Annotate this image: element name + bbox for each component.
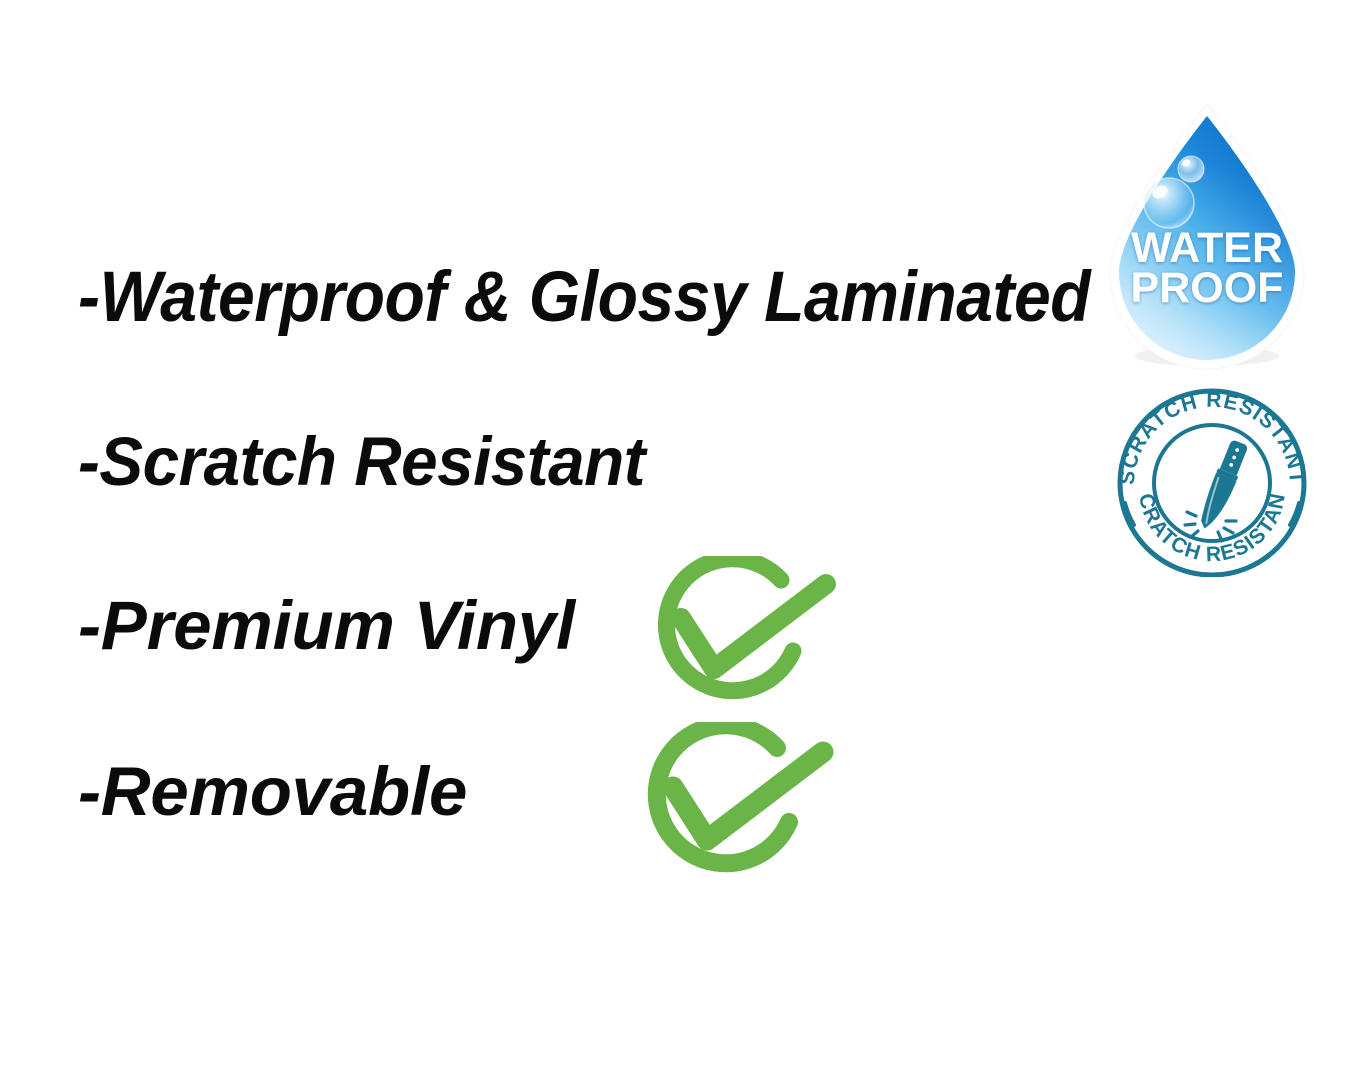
check-circle-icon <box>641 556 837 708</box>
bullet-dash: - <box>78 427 99 496</box>
feature-label: Waterproof & Glossy Laminated <box>100 262 1091 333</box>
feature-list-graphic: -Waterproof & Glossy Laminated -Scratch … <box>0 0 1359 1080</box>
feature-label: Premium Vinyl <box>101 591 575 660</box>
bullet-dash: - <box>78 262 100 333</box>
scratch-resistant-stamp-icon: SCRATCH RESISTANT SCRATCH RESISTANT <box>1112 385 1312 577</box>
feature-label: Scratch Resistant <box>99 427 645 496</box>
bullet-dash: - <box>78 591 101 660</box>
check-circle-premium-vinyl <box>641 556 837 708</box>
feature-item-waterproof-glossy-laminated: -Waterproof & Glossy Laminated <box>78 262 1090 333</box>
check-circle-removable <box>631 722 835 882</box>
feature-item-scratch-resistant: -Scratch Resistant <box>78 427 645 496</box>
feature-item-premium-vinyl: -Premium Vinyl <box>78 591 575 660</box>
bullet-dash: - <box>78 757 101 826</box>
feature-label: Removable <box>101 757 467 826</box>
knife-icon <box>1195 438 1250 532</box>
feature-item-removable: -Removable <box>78 757 467 826</box>
water-drop-icon <box>1098 100 1316 372</box>
check-circle-icon <box>631 722 835 882</box>
scratch-resistant-badge: SCRATCH RESISTANT SCRATCH RESISTANT <box>1112 385 1312 577</box>
waterproof-badge: WATER PROOF <box>1098 100 1316 372</box>
scratch-badge-top-text: SCRATCH RESISTANT <box>1116 389 1309 486</box>
